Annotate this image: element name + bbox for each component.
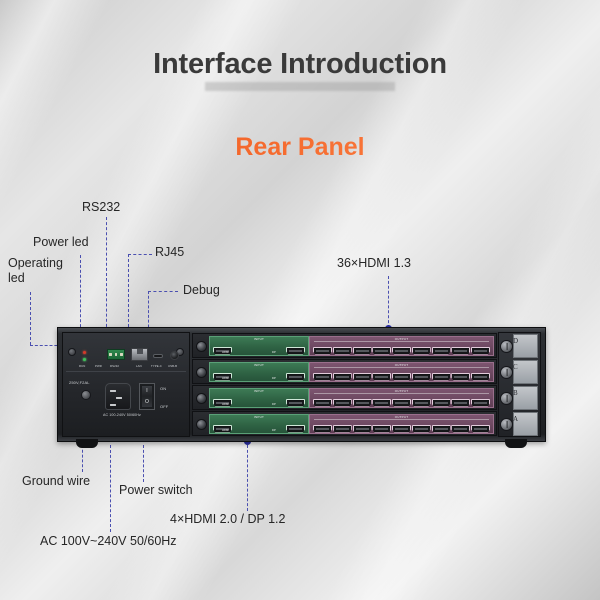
input-port-dp[interactable] bbox=[286, 347, 305, 355]
rj45-port-label: LAN bbox=[136, 364, 142, 368]
output-port[interactable]: HDMI 2 bbox=[333, 425, 352, 433]
output-port[interactable]: HDMI 1 bbox=[313, 347, 332, 355]
leader-ac-input bbox=[110, 445, 111, 532]
output-zone: OUTPUT HDMI 1 HDMI 2 HDMI 3 HDMI 4 HDMI … bbox=[309, 362, 494, 382]
input-zone-tag: INPUT bbox=[254, 363, 264, 367]
service-jack-label: USB-B bbox=[168, 364, 177, 368]
rs232-port-label: RS232 bbox=[110, 364, 119, 368]
output-port[interactable]: HDMI 7 bbox=[432, 425, 451, 433]
output-port[interactable]: HDMI 8 bbox=[451, 425, 470, 433]
leader-rj45-vertical bbox=[128, 254, 129, 337]
output-port-label: HDMI 5 bbox=[397, 434, 406, 437]
leader-power-led bbox=[80, 255, 81, 337]
input-zone: INPUT HDMI DP bbox=[209, 414, 309, 434]
output-port[interactable]: HDMI 7 bbox=[432, 399, 451, 407]
output-port-label: HDMI 6 bbox=[417, 434, 426, 437]
output-port-label: HDMI 4 bbox=[377, 434, 386, 437]
label-operating-led: Operating led bbox=[8, 256, 63, 286]
slot-letter: C bbox=[513, 363, 518, 371]
label-hdmi-outputs: 36×HDMI 1.3 bbox=[337, 256, 411, 271]
label-hdmi-inputs: 4×HDMI 2.0 / DP 1.2 bbox=[170, 512, 285, 527]
page-title: Interface Introduction bbox=[0, 48, 600, 81]
output-port-label: HDMI 8 bbox=[456, 434, 465, 437]
input-port-label-dp: DP bbox=[272, 351, 276, 354]
run-led-indicator bbox=[83, 351, 86, 354]
output-zone-rule bbox=[314, 367, 489, 368]
ground-wire-terminal[interactable] bbox=[81, 390, 91, 400]
power-switch-off-glyph: O bbox=[140, 399, 154, 405]
output-zone-rule bbox=[314, 341, 489, 342]
screenshot-root: Interface Introduction Rear Panel Operat… bbox=[0, 0, 600, 600]
leader-rs232 bbox=[106, 217, 107, 337]
output-port[interactable]: HDMI 8 bbox=[451, 373, 470, 381]
output-port[interactable]: HDMI 1 bbox=[313, 399, 332, 407]
input-port-dp[interactable] bbox=[286, 425, 305, 433]
output-port[interactable]: HDMI 2 bbox=[333, 399, 352, 407]
leader-ground-wire bbox=[82, 445, 83, 472]
output-port-label: HDMI 3 bbox=[357, 434, 366, 437]
input-zone: INPUT HDMI DP bbox=[209, 362, 309, 382]
label-ac-input: AC 100V~240V 50/60Hz bbox=[40, 534, 177, 549]
output-port[interactable]: HDMI 3 bbox=[353, 347, 372, 355]
page-subtitle: Rear Panel bbox=[0, 133, 600, 162]
output-port[interactable]: HDMI 6 bbox=[412, 399, 431, 407]
input-port-dp[interactable] bbox=[286, 399, 305, 407]
ac-power-inlet[interactable] bbox=[105, 383, 131, 410]
output-port[interactable]: HDMI 7 bbox=[432, 347, 451, 355]
output-port[interactable]: HDMI 9 bbox=[471, 425, 490, 433]
label-operating-led-line1: Operating bbox=[8, 256, 63, 270]
ac-marking-label: AC 100-240V 50/60Hz bbox=[103, 413, 141, 417]
leader-operating-led-vertical bbox=[30, 292, 31, 345]
output-port-group: HDMI 1 HDMI 2 HDMI 3 HDMI 4 HDMI 5 HDMI … bbox=[313, 343, 490, 358]
power-switch-off-label: OFF bbox=[160, 404, 168, 409]
output-port[interactable]: HDMI 5 bbox=[392, 347, 411, 355]
io-card-row: INPUT HDMI DP OUTPUT HDMI 1 HDMI 2 HDMI … bbox=[192, 359, 497, 384]
slot-letter: D bbox=[513, 337, 518, 345]
output-port[interactable]: HDMI 7 bbox=[432, 373, 451, 381]
card-cage: INPUT HDMI DP OUTPUT HDMI 1 HDMI 2 HDMI … bbox=[192, 332, 497, 437]
label-power-led: Power led bbox=[33, 235, 89, 250]
input-port-label-dp: DP bbox=[272, 403, 276, 406]
output-port[interactable]: HDMI 4 bbox=[372, 373, 391, 381]
input-zone-tag: INPUT bbox=[254, 337, 264, 341]
label-rj45: RJ45 bbox=[155, 245, 184, 260]
input-zone-tag: INPUT bbox=[254, 389, 264, 393]
output-port-group: HDMI 1 HDMI 2 HDMI 3 HDMI 4 HDMI 5 HDMI … bbox=[313, 421, 490, 436]
output-port-group: HDMI 1 HDMI 2 HDMI 3 HDMI 4 HDMI 5 HDMI … bbox=[313, 395, 490, 410]
output-port[interactable]: HDMI 6 bbox=[412, 425, 431, 433]
output-port[interactable]: HDMI 3 bbox=[353, 399, 372, 407]
output-port[interactable]: HDMI 3 bbox=[353, 373, 372, 381]
output-zone: OUTPUT HDMI 1 HDMI 2 HDMI 3 HDMI 4 HDMI … bbox=[309, 414, 494, 434]
output-port[interactable]: HDMI 1 bbox=[313, 425, 332, 433]
output-port-label: HDMI 2 bbox=[338, 434, 347, 437]
label-ground-wire: Ground wire bbox=[22, 474, 90, 489]
input-port-dp[interactable] bbox=[286, 373, 305, 381]
output-port[interactable]: HDMI 4 bbox=[372, 399, 391, 407]
leader-hdmi-inputs bbox=[247, 445, 248, 511]
output-port-group: HDMI 1 HDMI 2 HDMI 3 HDMI 4 HDMI 5 HDMI … bbox=[313, 369, 490, 384]
slot-letter: B bbox=[513, 389, 518, 397]
label-debug: Debug bbox=[183, 283, 220, 298]
chassis-foot-left bbox=[76, 439, 98, 448]
io-card-row: INPUT HDMI DP OUTPUT HDMI 1 HDMI 2 HDMI … bbox=[192, 385, 497, 410]
service-jack-port[interactable] bbox=[170, 351, 179, 360]
output-port[interactable]: HDMI 9 bbox=[471, 347, 490, 355]
slot-thumbscrew[interactable] bbox=[500, 392, 513, 405]
label-power-switch: Power switch bbox=[119, 483, 193, 498]
input-port-label-dp: DP bbox=[272, 377, 276, 380]
input-port-label-dp: DP bbox=[272, 429, 276, 432]
output-port[interactable]: HDMI 6 bbox=[412, 347, 431, 355]
output-port[interactable]: HDMI 2 bbox=[333, 373, 352, 381]
output-port-label: HDMI 9 bbox=[476, 434, 485, 437]
slot-letter: A bbox=[513, 415, 518, 423]
output-port[interactable]: HDMI 8 bbox=[451, 399, 470, 407]
output-zone: OUTPUT HDMI 1 HDMI 2 HDMI 3 HDMI 4 HDMI … bbox=[309, 336, 494, 356]
chassis-foot-right bbox=[505, 439, 527, 448]
screw-top-left bbox=[68, 348, 76, 356]
output-port[interactable]: HDMI 4 bbox=[372, 347, 391, 355]
leader-hdmi-outputs bbox=[388, 276, 389, 328]
subpanel-divider bbox=[66, 371, 186, 372]
output-port[interactable]: HDMI 4 bbox=[372, 425, 391, 433]
card-screw[interactable] bbox=[196, 367, 207, 378]
input-zone: INPUT HDMI DP bbox=[209, 336, 309, 356]
io-card-row: INPUT HDMI DP OUTPUT HDMI 1 HDMI 2 HDMI … bbox=[192, 333, 497, 358]
debug-usbc-port[interactable] bbox=[153, 354, 163, 358]
output-zone: OUTPUT HDMI 1 HDMI 2 HDMI 3 HDMI 4 HDMI … bbox=[309, 388, 494, 408]
input-port-label-hdmi: HDMI bbox=[222, 377, 229, 380]
title-shadow bbox=[205, 82, 395, 91]
output-zone-rule bbox=[314, 393, 489, 394]
slot-thumbscrew[interactable] bbox=[500, 340, 513, 353]
power-switch-on-glyph: I bbox=[140, 388, 154, 394]
slot-thumbscrew[interactable] bbox=[500, 366, 513, 379]
output-port[interactable]: HDMI 3 bbox=[353, 425, 372, 433]
rs232-port[interactable] bbox=[107, 349, 125, 360]
io-card-row: INPUT HDMI DP OUTPUT HDMI 1 HDMI 2 HDMI … bbox=[192, 411, 497, 436]
card-screw[interactable] bbox=[196, 341, 207, 352]
input-port-label-hdmi: HDMI bbox=[222, 351, 229, 354]
power-switch-on-label: ON bbox=[160, 386, 166, 391]
leader-debug-horizontal bbox=[148, 291, 178, 292]
fuse-rating-label: 250V,F2AL bbox=[69, 380, 90, 385]
output-port[interactable]: HDMI 9 bbox=[471, 373, 490, 381]
label-operating-led-line2: led bbox=[8, 271, 25, 285]
rj45-port[interactable] bbox=[131, 348, 148, 361]
slot-label-strip: D C B A bbox=[498, 332, 541, 437]
power-led-label: PWR bbox=[95, 364, 102, 368]
output-port[interactable]: HDMI 2 bbox=[333, 347, 352, 355]
input-zone-tag: INPUT bbox=[254, 415, 264, 419]
label-rs232: RS232 bbox=[82, 200, 120, 215]
leader-rj45-horizontal bbox=[128, 254, 152, 255]
debug-usbc-label: TYPE-C bbox=[151, 364, 162, 368]
run-led-label: RUN bbox=[79, 364, 85, 368]
input-zone: INPUT HDMI DP bbox=[209, 388, 309, 408]
output-port[interactable]: HDMI 6 bbox=[412, 373, 431, 381]
output-port-label: HDMI 7 bbox=[436, 434, 445, 437]
output-port-label: HDMI 1 bbox=[318, 434, 327, 437]
control-subpanel: RUN PWR RS232 LAN TYPE-C USB-B 250V,F2AL bbox=[62, 332, 190, 437]
card-screw[interactable] bbox=[196, 419, 207, 430]
card-screw[interactable] bbox=[196, 393, 207, 404]
power-led-indicator bbox=[83, 358, 86, 361]
power-switch[interactable]: I O bbox=[139, 383, 155, 410]
output-port[interactable]: HDMI 5 bbox=[392, 425, 411, 433]
input-port-label-hdmi: HDMI bbox=[222, 403, 229, 406]
output-port[interactable]: HDMI 5 bbox=[392, 399, 411, 407]
device-chassis: RUN PWR RS232 LAN TYPE-C USB-B 250V,F2AL bbox=[57, 327, 546, 442]
output-port[interactable]: HDMI 8 bbox=[451, 347, 470, 355]
input-port-label-hdmi: HDMI bbox=[222, 429, 229, 432]
output-port[interactable]: HDMI 5 bbox=[392, 373, 411, 381]
output-port[interactable]: HDMI 9 bbox=[471, 399, 490, 407]
output-zone-rule bbox=[314, 419, 489, 420]
output-port[interactable]: HDMI 1 bbox=[313, 373, 332, 381]
leader-power-switch bbox=[143, 445, 144, 482]
slot-thumbscrew[interactable] bbox=[500, 418, 513, 431]
